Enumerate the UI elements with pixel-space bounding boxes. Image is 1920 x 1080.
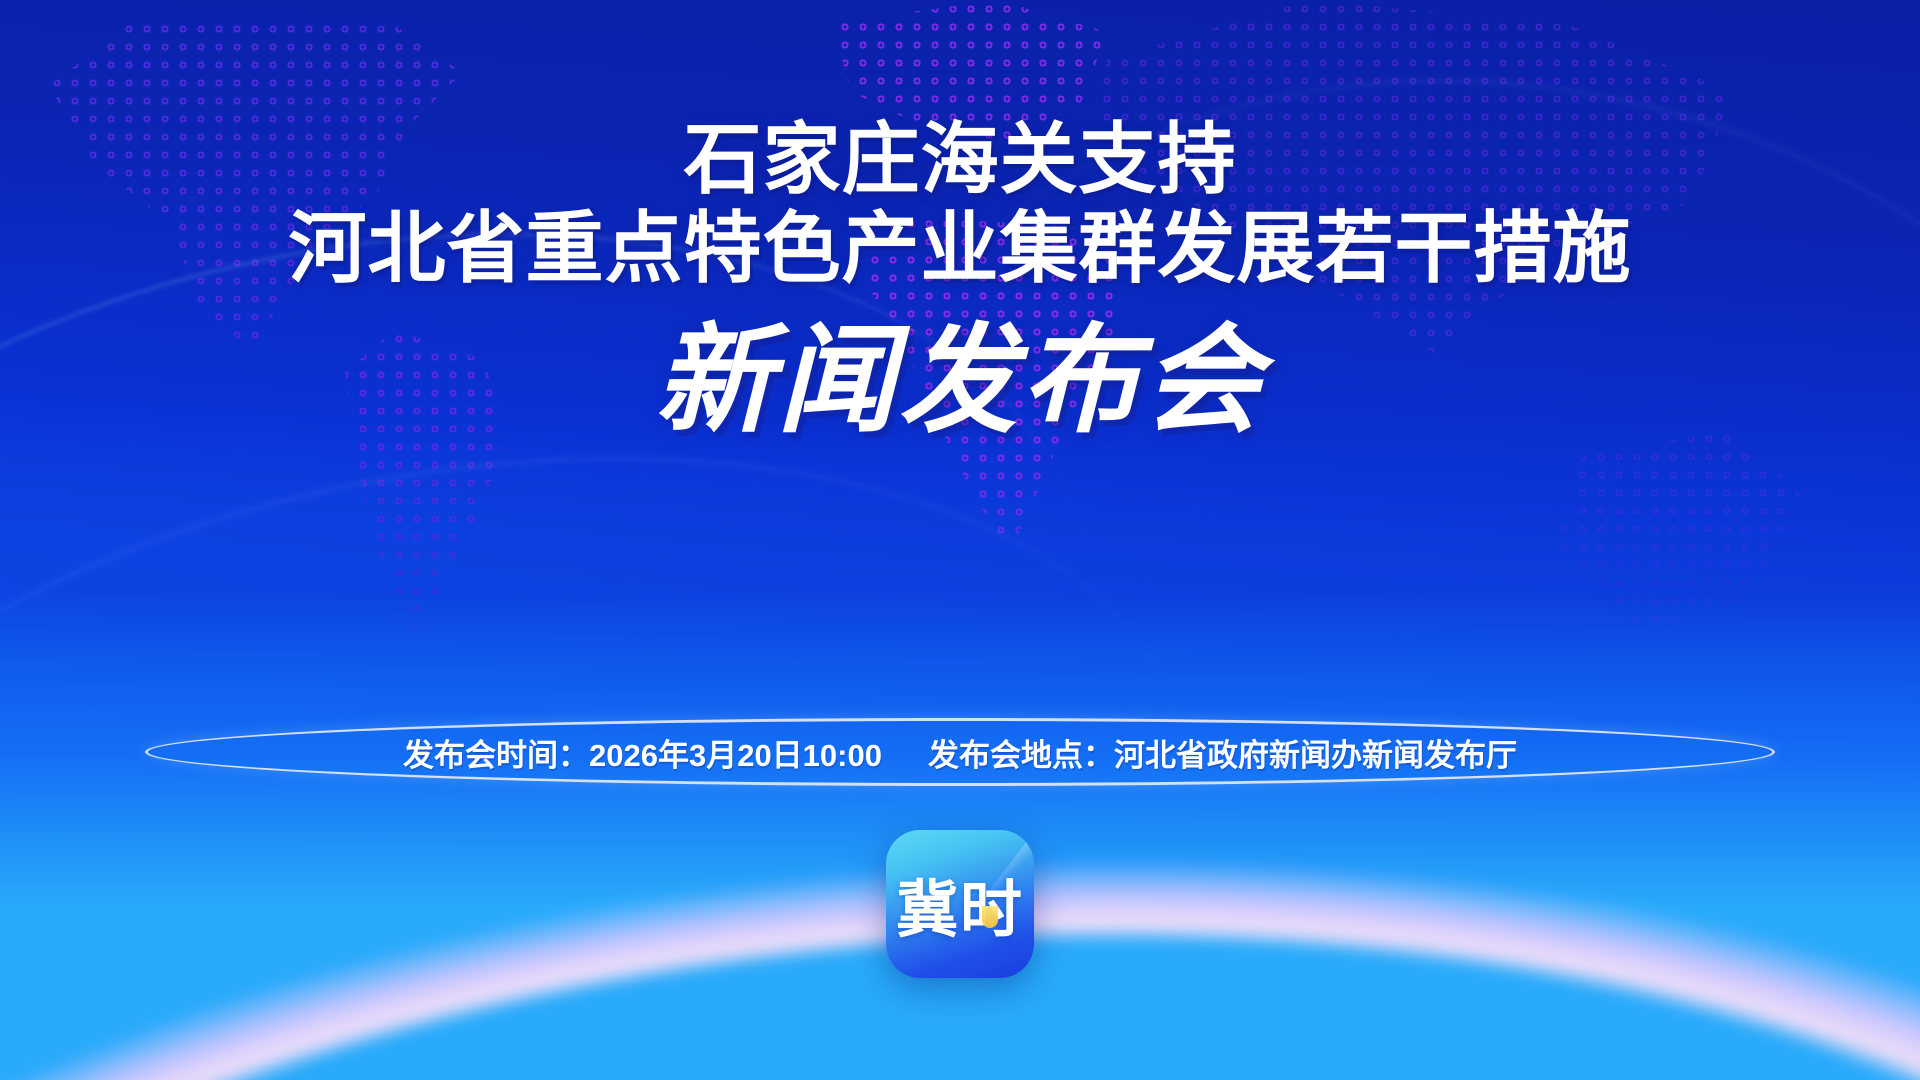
event-location: 发布会地点：河北省政府新闻办新闻发布厅	[928, 730, 1517, 775]
logo-text: 冀时	[886, 830, 1034, 978]
title-line-2: 河北省重点特色产业集群发展若干措施	[0, 207, 1920, 290]
poster-title-block: 石家庄海关支持 河北省重点特色产业集群发展若干措施 新闻发布会	[0, 118, 1920, 444]
title-line-3-event-name: 新闻发布会	[0, 319, 1920, 444]
press-conference-poster: 石家庄海关支持 河北省重点特色产业集群发展若干措施 新闻发布会 发布会时间：20…	[0, 0, 1920, 1080]
jishi-app-logo: 冀时	[886, 830, 1034, 978]
event-time: 发布会时间：2026年3月20日10:00	[403, 730, 882, 775]
title-line-1: 石家庄海关支持	[0, 118, 1920, 201]
info-pill-outline: 发布会时间：2026年3月20日10:00 发布会地点：河北省政府新闻办新闻发布…	[145, 718, 1775, 786]
logo-accent-mark	[982, 906, 998, 928]
event-info-bar: 发布会时间：2026年3月20日10:00 发布会地点：河北省政府新闻办新闻发布…	[145, 718, 1775, 786]
